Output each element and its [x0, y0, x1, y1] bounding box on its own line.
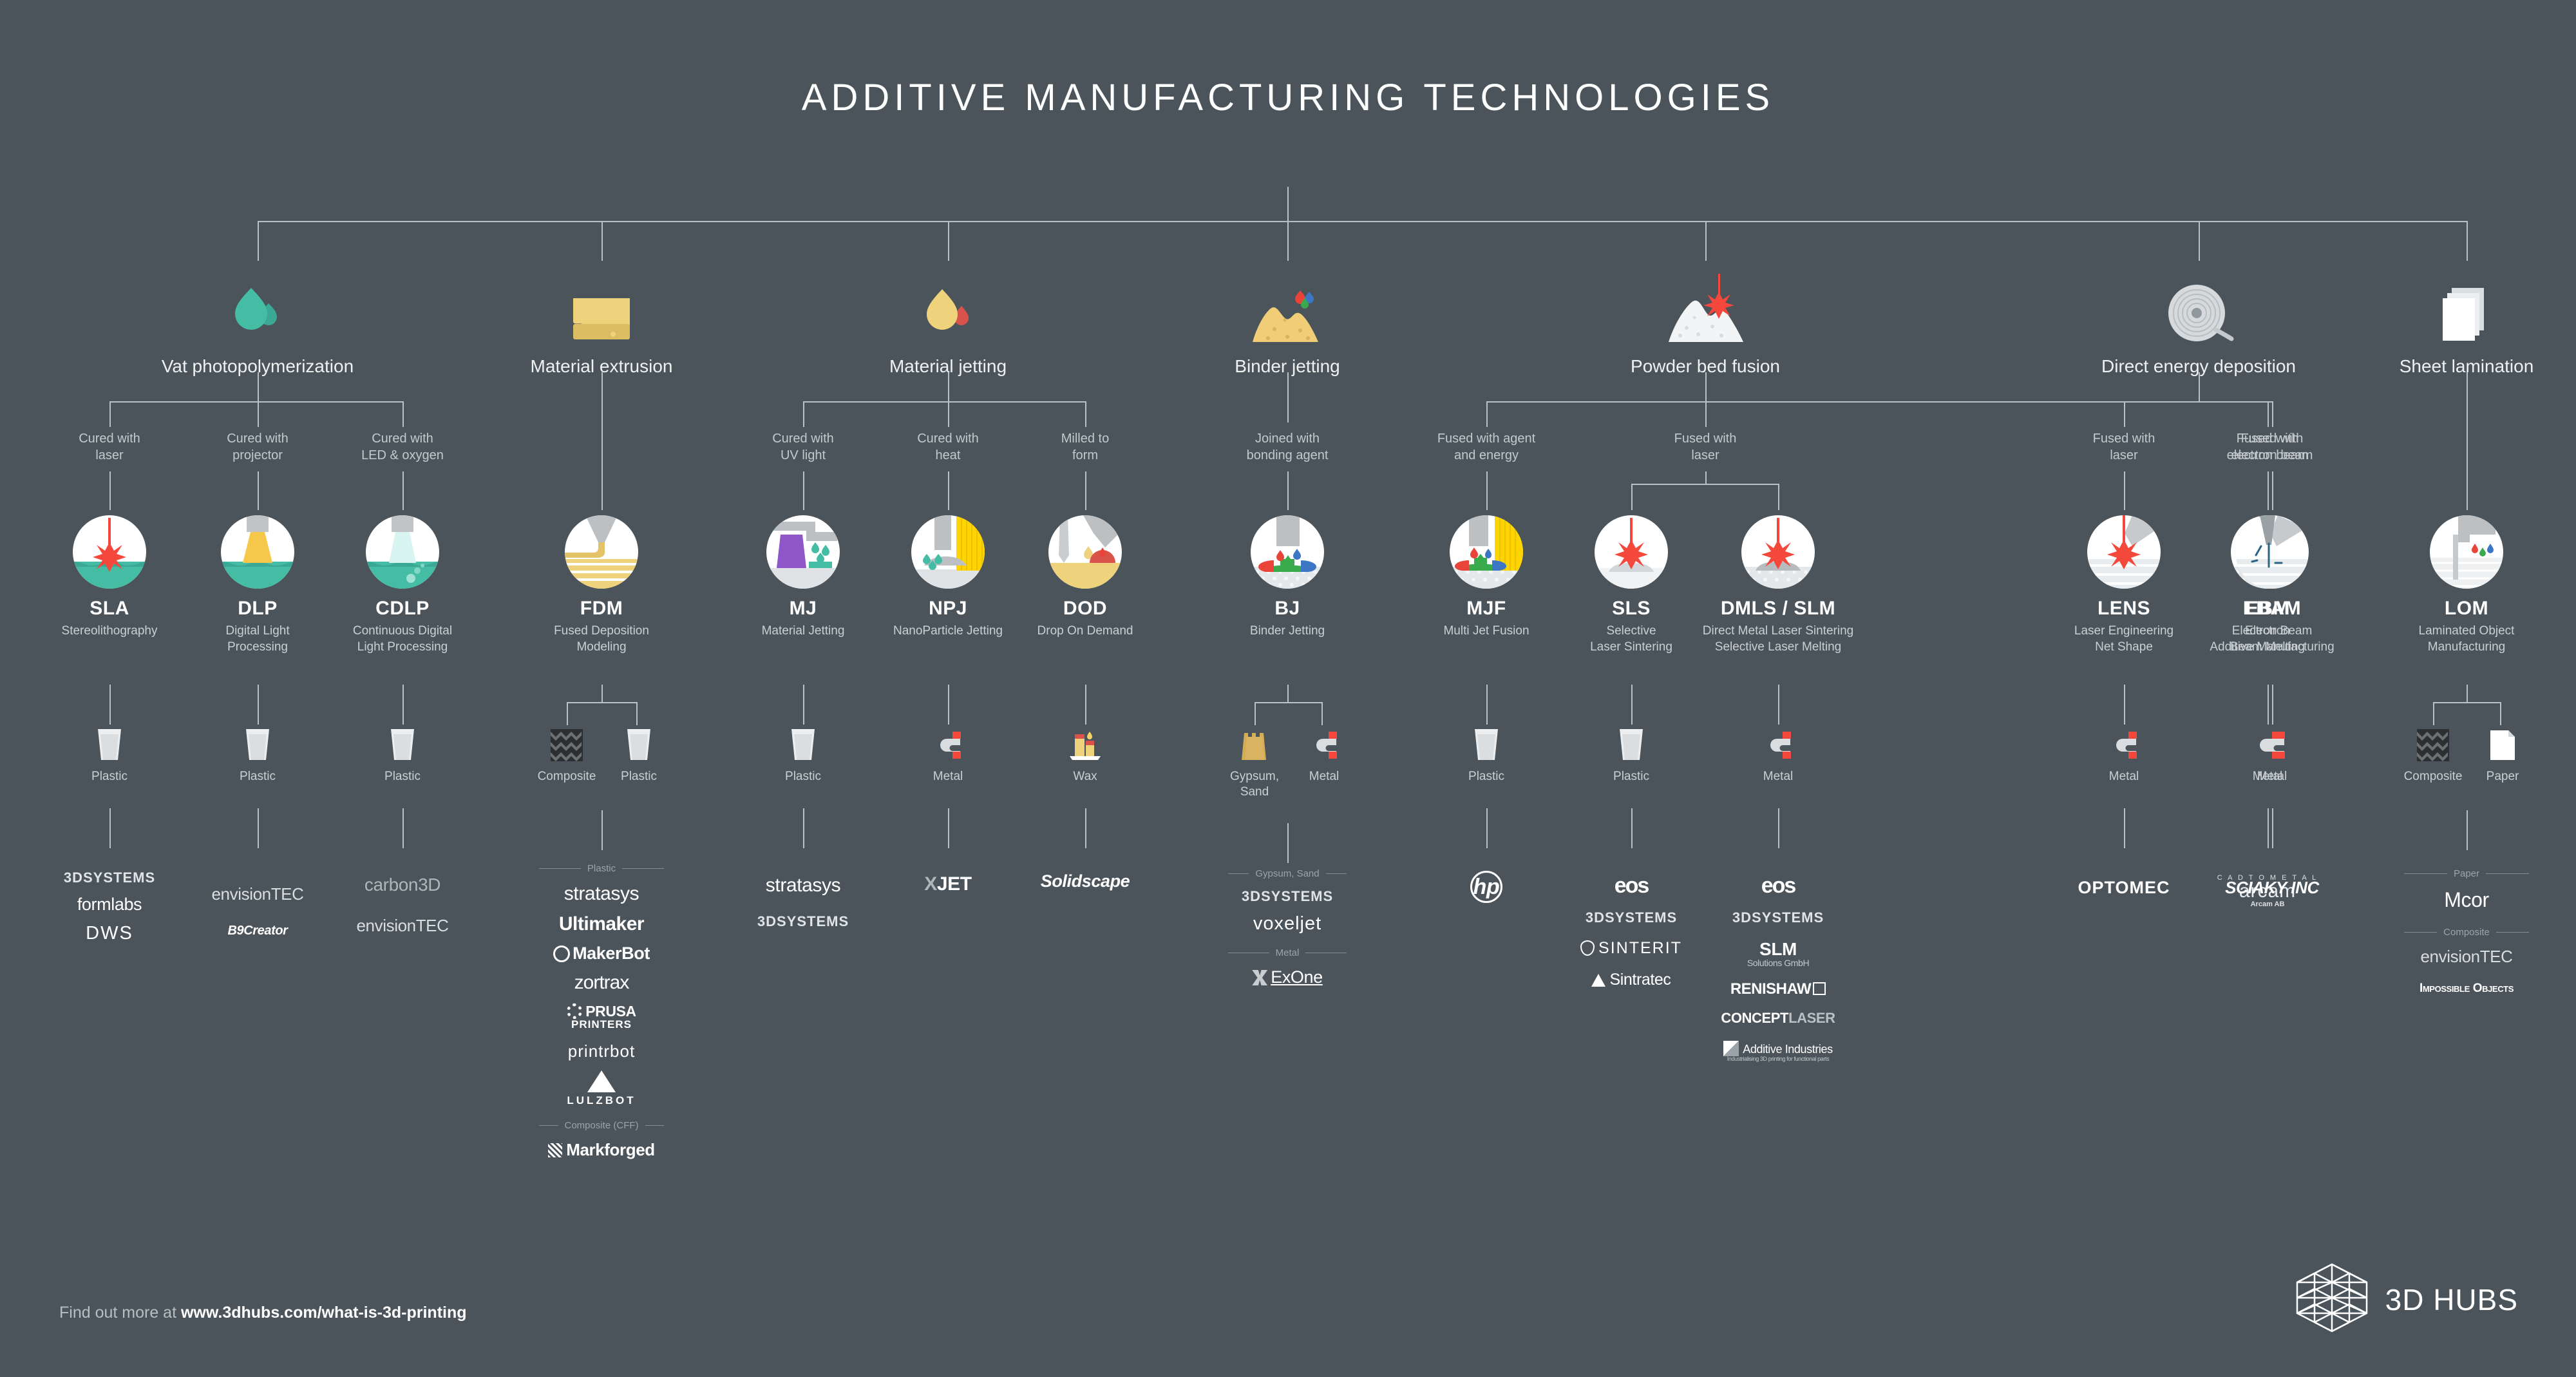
ded-bar: [2124, 401, 2273, 403]
logo-3dsystems[interactable]: 3DSYSTEMS: [706, 915, 900, 929]
lulzbot-triangle-icon: [587, 1070, 616, 1092]
logo-stem-mj: [803, 808, 804, 848]
exone-x-icon: [1252, 970, 1267, 985]
footer-prefix: Find out more at: [59, 1304, 181, 1322]
logo-text: SINTERIT: [1598, 939, 1682, 957]
binder-trunk: [1287, 372, 1289, 423]
process-abbr: CDLP: [312, 598, 493, 620]
mat-trunk-lom: [2467, 685, 2468, 703]
logo-envisiontec[interactable]: envisionTEC: [2399, 948, 2534, 965]
branch-label-pbf-laser: Fused with laser: [1641, 430, 1770, 464]
mjf-printhead-icon: [1450, 515, 1523, 589]
mat-drop-fdm-plastic: [636, 702, 638, 725]
jetting-drop-mj: [803, 401, 804, 427]
mat-stem-ebm: [2268, 685, 2269, 725]
process-abbr: FDM: [511, 598, 692, 620]
logo-mcor[interactable]: Mcor: [2399, 889, 2534, 910]
mat-stem-mjf: [1486, 685, 1488, 725]
branch-label-mjf: Fused with agent and energy: [1403, 430, 1570, 464]
mat-stem-lens: [2124, 685, 2125, 725]
divider-label: Gypsum, Sand: [1255, 868, 1319, 879]
jetting-stem-dod: [1085, 471, 1086, 510]
lom-layers-icon: [2430, 515, 2503, 589]
process-dod[interactable]: DOD Drop On Demand: [995, 515, 1175, 640]
mat-bar-bj: [1255, 702, 1321, 703]
logo-text: ExOne: [1271, 967, 1323, 987]
process-fullname: Drop On Demand: [995, 623, 1175, 640]
markforged-hex-icon: [548, 1143, 562, 1157]
logo-stem-fdm: [601, 810, 603, 850]
mat-bar-lom: [2433, 702, 2500, 703]
mat-stem-sla: [109, 685, 111, 725]
vat-bar: [109, 401, 402, 403]
logo-text: hp: [1473, 876, 1500, 898]
material-label: Plastic: [1422, 769, 1551, 784]
magnet-icon: [2060, 728, 2188, 761]
gear-icon: [567, 1003, 582, 1019]
family-drop-ded: [2199, 221, 2200, 261]
mat-drop-bj-metal: [1321, 702, 1323, 725]
divider-label: Composite: [2443, 927, 2490, 938]
plastic-cup-icon: [193, 728, 322, 761]
binder-stem-bj: [1287, 471, 1289, 510]
material-dod-wax: Wax: [1021, 728, 1150, 784]
divider-label: Plastic: [587, 863, 616, 874]
footer-url: www.3dhubs.com/what-is-3d-printing: [181, 1304, 467, 1322]
process-abbr: DMLS / SLM: [1662, 598, 1894, 620]
process-fullname: Binder Jetting: [1197, 623, 1378, 640]
logo-column-lom: Paper Mcor Composite envisionTEC Impossi…: [2399, 868, 2534, 1007]
logo-markforged[interactable]: Markforged: [534, 1141, 669, 1158]
mat-stem-cdlp: [402, 685, 404, 725]
family-drop-jetting: [948, 221, 949, 261]
material-label: Metal: [1279, 769, 1369, 784]
ded-drop-ebam: [2272, 401, 2273, 427]
logo-column-sls: eos 3DSYSTEMS SINTERIT Sintratec: [1557, 875, 1705, 999]
pbf-stem-mjf: [1486, 471, 1488, 510]
mat-trunk-fdm: [601, 685, 603, 703]
logo-column-mjf: hp: [1390, 871, 1583, 914]
logo-text: Additive Industries: [1743, 1043, 1832, 1056]
logo-concept-laser[interactable]: CONCEPTLASER: [1694, 1011, 1862, 1025]
mat-drop-lom-paper: [2500, 702, 2501, 725]
logo-group-heading-paper: Paper: [2404, 868, 2528, 879]
jetting-drop-dod: [1085, 401, 1086, 427]
branch-label-bj: Joined with bonding agent: [1210, 430, 1365, 464]
pbf-laser-substem: [1705, 471, 1707, 484]
logo-3dsystems[interactable]: 3DSYSTEMS: [13, 871, 206, 885]
npj-printhead-icon: [911, 515, 985, 589]
lens-laser-icon: [2087, 515, 2161, 589]
magnet-icon: [1279, 728, 1369, 761]
logo-column-cdlp: carbon3D envisionTEC: [306, 876, 499, 945]
process-bj[interactable]: BJ Binder Jetting: [1197, 515, 1378, 640]
branch-label-dlp: Cured with projector: [193, 430, 322, 464]
page-title: ADDITIVE MANUFACTURING TECHNOLOGIES: [0, 76, 2576, 119]
ded-stem-lens: [2124, 471, 2125, 510]
plastic-cup-icon: [338, 728, 467, 761]
logo-eos[interactable]: eos: [1557, 875, 1705, 897]
plastic-cup-icon: [1422, 728, 1551, 761]
mat-drop-bj-gypsum: [1255, 702, 1256, 725]
footer-link[interactable]: Find out more at www.3dhubs.com/what-is-…: [59, 1304, 467, 1322]
logo-makerbot[interactable]: MakerBot: [534, 945, 669, 962]
material-mjf-plastic: Plastic: [1422, 728, 1551, 784]
logo-renishaw[interactable]: RENISHAW: [1694, 982, 1862, 997]
root-branch-bar: [258, 221, 2467, 222]
pbf-drop-laser: [1705, 401, 1707, 427]
material-label: Plastic: [739, 769, 867, 784]
logo-stem-dod: [1085, 808, 1086, 848]
logo-eos[interactable]: eos: [1694, 875, 1862, 897]
mat-drop-fdm-composite: [567, 702, 568, 725]
vat-drop-sla: [109, 401, 111, 427]
logo-envisiontec[interactable]: envisionTEC: [306, 917, 499, 934]
logo-column-fdm: Plastic stratasys Ultimaker MakerBot zor…: [534, 863, 669, 1169]
candle-icon: [1021, 728, 1150, 761]
logo-stem-ebm: [2268, 808, 2269, 848]
vat-drop-cdlp: [402, 401, 404, 427]
sinterit-mark-icon: [1580, 940, 1595, 956]
dod-mill-icon: [1048, 515, 1122, 589]
logo-carbon3d[interactable]: carbon3D: [306, 876, 499, 894]
logo-stem-dmls: [1778, 808, 1779, 848]
material-npj-metal: Metal: [884, 728, 1012, 784]
divider-label: Paper: [2454, 868, 2479, 879]
logo-sinterit[interactable]: SINTERIT: [1557, 940, 1705, 956]
mat-stem-dod: [1085, 685, 1086, 725]
material-fdm-plastic: Plastic: [591, 728, 687, 784]
logo-sciaky[interactable]: SCIAKY INC: [2175, 879, 2369, 896]
process-fullname: Electron Beam Additive Manufacturing: [2169, 623, 2375, 655]
material-sla-plastic: Plastic: [45, 728, 174, 784]
logo-stem-lens: [2124, 808, 2125, 848]
magnet-icon: [1714, 728, 1842, 761]
pbf-stem-ebm: [2268, 471, 2269, 510]
plastic-cup-icon: [591, 728, 687, 761]
infographic-canvas: ADDITIVE MANUFACTURING TECHNOLOGIES Vat …: [0, 0, 2576, 1377]
ded-trunk: [2199, 372, 2200, 402]
brand-name: 3D HUBS: [2385, 1282, 2518, 1317]
teal-droplets-icon: [129, 261, 386, 345]
mat-bar-fdm: [567, 702, 638, 703]
sls-laser-icon: [1595, 515, 1668, 589]
sintratec-mark-icon: [1591, 974, 1605, 987]
vat-stem-sla: [109, 471, 111, 510]
family-drop-sheet: [2467, 221, 2468, 261]
mat-stem-dlp: [258, 685, 259, 725]
logo-stem-npj: [948, 808, 949, 848]
jetting-stem-npj: [948, 471, 949, 510]
melted-block-icon: [473, 261, 730, 345]
mj-printhead-icon: [766, 515, 840, 589]
xjet-x-glyph: X: [924, 873, 937, 895]
material-label: Metal: [884, 769, 1012, 784]
logo-stratasys[interactable]: stratasys: [534, 884, 669, 904]
logo-stem-cdlp: [402, 808, 404, 848]
logo-exone[interactable]: ExOne: [1223, 969, 1352, 986]
pbf-drop-sls: [1631, 484, 1633, 510]
logo-voxeljet[interactable]: voxeljet: [1223, 915, 1352, 933]
paper-sheet-icon: [2454, 728, 2551, 761]
family-drop-binder: [1287, 221, 1289, 261]
material-label: Plastic: [45, 769, 174, 784]
logo-column-dod: Solidscape: [989, 873, 1182, 901]
hp-circle-icon: hp: [1470, 871, 1502, 903]
logo-carbon-text: carbon3D: [365, 875, 440, 895]
process-ebam[interactable]: EBAM Electron Beam Additive Manufacturin…: [2169, 515, 2375, 655]
branch-label-sla: Cured with laser: [45, 430, 174, 464]
branch-label-dod: Milled to form: [1021, 430, 1150, 464]
family-powder-bed-fusion[interactable]: Powder bed fusion: [1577, 261, 1834, 377]
wire-coil-icon: [2070, 261, 2327, 345]
logo-sintratec[interactable]: Sintratec: [1557, 972, 1705, 988]
material-label: Plastic: [591, 769, 687, 784]
mat-stem-npj: [948, 685, 949, 725]
mat-stem-sls: [1631, 685, 1633, 725]
process-fdm[interactable]: FDM Fused Deposition Modeling: [511, 515, 692, 655]
material-label: Paper: [2454, 769, 2551, 784]
process-fullname: Direct Metal Laser Sintering Selective L…: [1662, 623, 1894, 655]
material-label: Metal: [2060, 769, 2188, 784]
material-label: Plastic: [1567, 769, 1696, 784]
material-label: Metal: [1714, 769, 1842, 784]
logo-prusa-printers[interactable]: PRUSAPRINTERS: [534, 1003, 669, 1030]
family-vat-photopolymerization[interactable]: Vat photopolymerization: [129, 261, 386, 377]
mat-stem-ebam: [2272, 685, 2273, 725]
logo-solidscape[interactable]: Solidscape: [989, 873, 1182, 890]
logo-group-heading-plastic: Plastic: [539, 863, 663, 874]
mat-stem-dmls: [1778, 685, 1779, 725]
branch-label-cdlp: Cured with LED & oxygen: [332, 430, 473, 464]
logo-hp[interactable]: hp: [1390, 871, 1583, 903]
mat-trunk-bj: [1287, 685, 1289, 703]
logo-text: RENISHAW: [1730, 980, 1811, 998]
logo-3dsystems[interactable]: 3DSYSTEMS: [1694, 911, 1862, 925]
branch-label-ebam: Fused with electron beam: [2198, 430, 2346, 464]
dmls-laser-icon: [1741, 515, 1815, 589]
logo-stem-ebam: [2272, 808, 2273, 848]
material-lom-paper: Paper: [2454, 728, 2551, 784]
mat-drop-lom-composite: [2433, 702, 2434, 725]
divider-label: Metal: [1276, 947, 1300, 958]
divider-label: Composite (CFF): [565, 1120, 639, 1131]
logo-stem-mjf: [1486, 808, 1488, 848]
ebam-beam-icon: [2235, 515, 2309, 589]
material-lens-metal: Metal: [2060, 728, 2188, 784]
powder-laser-icon: [1577, 261, 1834, 345]
logo-column-bj: Gypsum, Sand 3DSYSTEMS voxeljet Metal Ex…: [1223, 868, 1352, 997]
ded-stem-ebam: [2272, 471, 2273, 510]
process-abbr: LOM: [2370, 598, 2563, 620]
branch-label-mj: Cured with UV light: [739, 430, 867, 464]
logo-group-heading-composite: Composite: [2404, 927, 2528, 938]
material-dmls-metal: Metal: [1714, 728, 1842, 784]
logo-stem-bj: [1287, 823, 1289, 863]
plastic-cup-icon: [739, 728, 867, 761]
yellow-red-droplets-icon: [819, 261, 1077, 345]
makerbot-badge-icon: [553, 945, 570, 962]
logo-slm-solutions[interactable]: SLMSolutions GmbH: [1694, 940, 1862, 967]
logo-lulzbot[interactable]: LULZBOT: [534, 1070, 669, 1106]
renishaw-mark-icon: [1813, 982, 1826, 995]
binder-printhead-icon: [1251, 515, 1324, 589]
vat-drop-dlp: [258, 401, 259, 427]
process-cdlp[interactable]: CDLP Continuous Digital Light Processing: [312, 515, 493, 655]
process-fullname: Laminated Object Manufacturing: [2370, 623, 2563, 655]
root-trunk-line: [1287, 187, 1289, 222]
logo-group-heading-gypsum-sand: Gypsum, Sand: [1228, 868, 1347, 879]
family-label: Sheet lamination: [2338, 356, 2576, 377]
vat-stem-cdlp: [402, 471, 404, 510]
logo-text: Mcor: [2444, 888, 2489, 911]
vat-stem-dlp: [258, 471, 259, 510]
logo-zortrax[interactable]: zortrax: [534, 973, 669, 992]
hexagon-lattice-icon: [2294, 1262, 2370, 1337]
material-cdlp-plastic: Plastic: [338, 728, 467, 784]
material-bj-metal: Metal: [1279, 728, 1369, 784]
logo-text: stratasys: [766, 875, 840, 896]
logo-stem-lom: [2467, 810, 2468, 850]
magnet-icon: [2208, 728, 2336, 761]
process-abbr: EBAM: [2169, 598, 2375, 620]
jetting-bar: [803, 401, 1086, 403]
pbf-trunk: [1705, 372, 1707, 402]
family-material-extrusion[interactable]: Material extrusion: [473, 261, 730, 377]
logo-3dsystems[interactable]: 3DSYSTEMS: [1223, 889, 1352, 904]
magnet-icon: [884, 728, 1012, 761]
logo-text: Markforged: [566, 1140, 655, 1159]
process-fullname: Continuous Digital Light Processing: [312, 623, 493, 655]
sheet-stem: [2467, 372, 2468, 510]
material-dlp-plastic: Plastic: [193, 728, 322, 784]
logo-group-heading-metal: Metal: [1228, 947, 1347, 958]
pbf-drop-mjf: [1486, 401, 1488, 427]
logo-stem-sla: [109, 808, 111, 848]
material-label: Plastic: [193, 769, 322, 784]
process-lom[interactable]: LOM Laminated Object Manufacturing: [2370, 515, 2563, 655]
projector-vat-icon: [221, 515, 294, 589]
process-abbr: DOD: [995, 598, 1175, 620]
material-label: Wax: [1021, 769, 1150, 784]
logo-column-dmls-slm: eos 3DSYSTEMS SLMSolutions GmbH RENISHAW…: [1694, 875, 1862, 1073]
family-binder-jetting[interactable]: Binder jetting: [1159, 261, 1416, 377]
material-mj-plastic: Plastic: [739, 728, 867, 784]
paper-sheets-icon: [2338, 261, 2576, 345]
laser-vat-icon: [73, 515, 146, 589]
plastic-cup-icon: [1567, 728, 1696, 761]
pbf-drop-ebm: [2268, 401, 2269, 427]
family-drop-pbf: [1705, 221, 1707, 261]
logo-3dsystems[interactable]: 3DSYSTEMS: [1557, 911, 1705, 925]
logo-printrbot[interactable]: printrbot: [534, 1043, 669, 1059]
material-ebam-metal: Metal: [2208, 728, 2336, 784]
logo-stem-sls: [1631, 808, 1633, 848]
family-drop-vat: [258, 221, 259, 261]
material-sls-plastic: Plastic: [1567, 728, 1696, 784]
logo-group-heading-composite-cff: Composite (CFF): [539, 1120, 663, 1131]
jetting-drop-npj: [948, 401, 949, 427]
logo-text: MakerBot: [573, 944, 650, 963]
sand-droplets-icon: [1159, 261, 1416, 345]
process-abbr: BJ: [1197, 598, 1378, 620]
branch-label-npj: Cured with heat: [884, 430, 1012, 464]
logo-text: Sintratec: [1609, 971, 1671, 989]
family-sheet-lamination[interactable]: Sheet lamination: [2338, 261, 2576, 377]
material-label: Plastic: [338, 769, 467, 784]
logo-column-ebam: SCIAKY INC: [2175, 879, 2369, 907]
pbf-laser-subbar: [1631, 484, 1779, 485]
family-direct-energy-deposition[interactable]: Direct energy deposition: [2070, 261, 2327, 377]
branch-label-lens: Fused with laser: [2060, 430, 2188, 464]
logo-text: stratasys: [564, 883, 639, 904]
extrusion-stem: [601, 372, 603, 510]
ded-drop-lens: [2124, 401, 2125, 427]
logo-impossible-objects[interactable]: Impossible Objects: [2399, 982, 2534, 996]
ai-mark-icon: [1723, 1041, 1739, 1056]
jetting-stem-mj: [803, 471, 804, 510]
brand-lockup[interactable]: 3D HUBS: [2294, 1262, 2518, 1337]
jetting-trunk: [948, 372, 949, 402]
process-fullname: Fused Deposition Modeling: [511, 623, 692, 655]
logo-stem-dlp: [258, 808, 259, 848]
mat-stem-mj: [803, 685, 804, 725]
material-label: Metal: [2208, 769, 2336, 784]
additive-tagline: Industrialising 3D printing for function…: [1694, 1056, 1862, 1062]
family-drop-extrusion: [601, 221, 603, 261]
pbf-drop-dmls: [1778, 484, 1779, 510]
process-dmls-slm[interactable]: DMLS / SLM Direct Metal Laser Sintering …: [1662, 515, 1894, 655]
extrusion-nozzle-icon: [565, 515, 638, 589]
logo-text: LULZBOT: [567, 1094, 636, 1106]
plastic-cup-icon: [45, 728, 174, 761]
led-vat-icon: [366, 515, 439, 589]
family-material-jetting[interactable]: Material jetting: [819, 261, 1077, 377]
logo-additive-industries[interactable]: Additive IndustriesIndustrialising 3D pr…: [1694, 1041, 1862, 1062]
vat-trunk: [258, 372, 259, 402]
logo-ultimaker[interactable]: Ultimaker: [534, 915, 669, 934]
